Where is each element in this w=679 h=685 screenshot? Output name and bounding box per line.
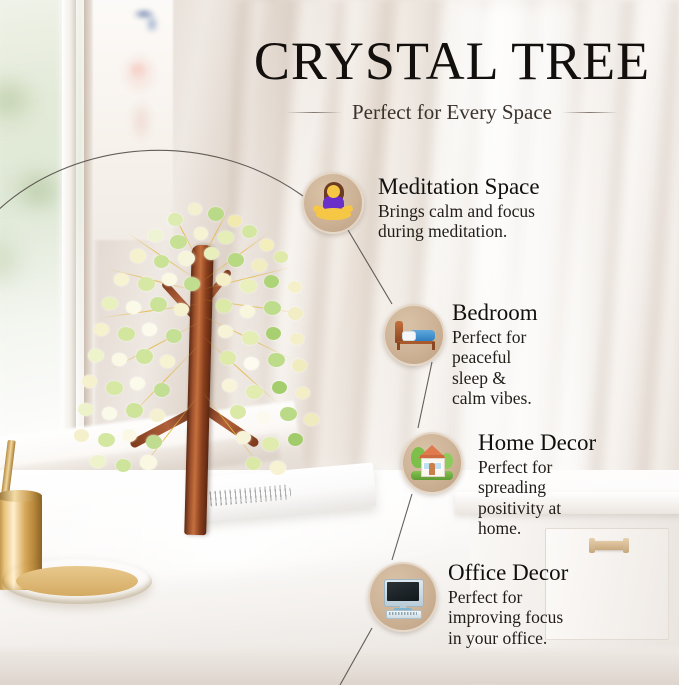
leaf-art-icon — [118, 86, 164, 156]
crystal-leaf — [102, 297, 118, 310]
crystal-leaf — [216, 299, 232, 313]
crystal-leaf — [272, 381, 287, 394]
crystal-leaf — [116, 459, 131, 472]
crystal-leaf — [246, 457, 261, 470]
crystal-leaf — [288, 281, 302, 293]
subtitle-rule-left — [286, 112, 342, 113]
computer-glyph — [380, 574, 426, 620]
feature-text-block: Bedroom Perfect for peaceful sleep & cal… — [452, 300, 538, 409]
crystal-leaf — [240, 279, 257, 293]
subtitle-row: Perfect for Every Space — [232, 100, 672, 125]
crystal-leaf — [162, 273, 177, 286]
crystal-leaf — [260, 239, 274, 251]
crystal-leaf — [290, 333, 304, 345]
crystal-leaf — [168, 213, 183, 226]
crystal-leaf — [78, 403, 94, 416]
person-in-lotus-position-icon — [302, 172, 364, 234]
crystal-leaf — [118, 327, 135, 341]
crystal-leaf — [304, 413, 319, 426]
meditation-glyph — [310, 180, 356, 226]
crystal-leaf — [270, 461, 286, 475]
crystal-leaf — [184, 277, 200, 291]
crystal-leaf — [82, 375, 97, 388]
crystal-leaf — [268, 353, 285, 367]
bird-art-icon — [124, 2, 164, 32]
crystal-leaf — [122, 429, 137, 442]
crystal-leaf — [102, 407, 117, 420]
crystal-leaf — [130, 377, 145, 390]
crystal-leaf — [242, 225, 257, 238]
house-with-garden-icon — [401, 432, 463, 494]
feature-description: Brings calm and focus during meditation. — [378, 201, 540, 242]
crystal-leaf — [266, 327, 281, 340]
feature-description: Perfect for improving focus in your offi… — [448, 587, 568, 648]
crystal-leaf — [292, 359, 307, 372]
crystal-leaf — [246, 385, 263, 399]
crystal-leaf — [252, 259, 267, 272]
crystal-leaf — [296, 387, 310, 399]
crystal-leaf — [160, 355, 175, 368]
crystal-leaf — [112, 353, 127, 366]
crystal-leaf — [88, 349, 104, 362]
crystal-leaf — [146, 435, 162, 449]
crystal-leaf — [188, 203, 202, 215]
feature-title: Meditation Space — [378, 174, 540, 200]
crystal-leaf — [126, 403, 143, 418]
bed-glyph — [391, 312, 437, 358]
crystal-leaf — [228, 253, 244, 267]
crystal-leaf — [114, 273, 129, 286]
subtitle-rule-right — [562, 112, 618, 113]
crystal-leaf — [94, 323, 109, 336]
crystal-leaf — [178, 251, 195, 266]
crystal-leaf — [106, 381, 123, 395]
crystal-leaf — [230, 405, 246, 419]
house-glyph — [409, 440, 455, 486]
gold-wire — [202, 335, 280, 406]
crystal-leaf — [150, 409, 165, 422]
crystal-leaf — [150, 297, 167, 312]
crystal-leaf — [264, 301, 281, 315]
desk-front-edge — [0, 648, 679, 685]
drawer-handle-icon — [592, 541, 626, 550]
page-subtitle: Perfect for Every Space — [352, 100, 552, 125]
crystal-leaf — [174, 303, 189, 316]
crystal-leaf — [142, 323, 157, 336]
crystal-leaf — [130, 249, 146, 263]
crystal-leaf — [244, 357, 259, 370]
crystal-leaf — [154, 255, 169, 268]
feature-title: Home Decor — [478, 430, 596, 456]
crystal-leaf — [288, 433, 303, 446]
infographic-canvas: CRYSTAL TREE Perfect for Every Space Med… — [0, 0, 679, 685]
crystal-leaf — [148, 229, 163, 242]
crystal-leaf — [216, 273, 231, 286]
crystal-leaf — [166, 329, 182, 343]
feature-description: Perfect for peaceful sleep & calm vibes. — [452, 327, 538, 409]
crystal-tree-product — [60, 185, 360, 585]
crystal-leaf — [138, 277, 155, 291]
crystal-leaf — [262, 437, 279, 451]
feature-text-block: Home Decor Perfect for spreading positiv… — [478, 430, 596, 539]
crystal-leaf — [218, 231, 234, 244]
feature-text-block: Meditation Space Brings calm and focus d… — [378, 174, 540, 242]
feature-title: Office Decor — [448, 560, 568, 586]
crystal-leaf — [256, 411, 271, 424]
crystal-leaf — [170, 235, 187, 249]
page-title: CRYSTAL TREE — [232, 34, 672, 88]
bed-icon — [383, 304, 445, 366]
header-block: CRYSTAL TREE Perfect for Every Space — [232, 34, 672, 125]
crystal-leaf — [140, 455, 157, 470]
crystal-leaf — [236, 431, 251, 444]
crystal-leaf — [264, 275, 279, 288]
desktop-computer-icon — [368, 562, 438, 632]
feature-title: Bedroom — [452, 300, 538, 326]
crystal-leaf — [274, 251, 288, 263]
crystal-leaf — [288, 307, 303, 320]
crystal-leaf — [280, 407, 297, 421]
crystal-leaf — [204, 247, 219, 260]
crystal-leaf — [222, 379, 237, 392]
feature-description: Perfect for spreading positivity at home… — [478, 457, 596, 539]
crystal-leaf — [218, 325, 233, 338]
crystal-leaf — [136, 349, 153, 364]
crystal-leaf — [154, 383, 170, 397]
crystal-leaf — [194, 227, 208, 240]
crystal-leaf — [98, 433, 115, 447]
crystal-leaf — [90, 455, 106, 468]
crystal-leaf — [228, 215, 242, 227]
feature-text-block: Office Decor Perfect for improving focus… — [448, 560, 568, 648]
crystal-leaf — [74, 429, 89, 442]
crystal-leaf — [240, 305, 255, 318]
